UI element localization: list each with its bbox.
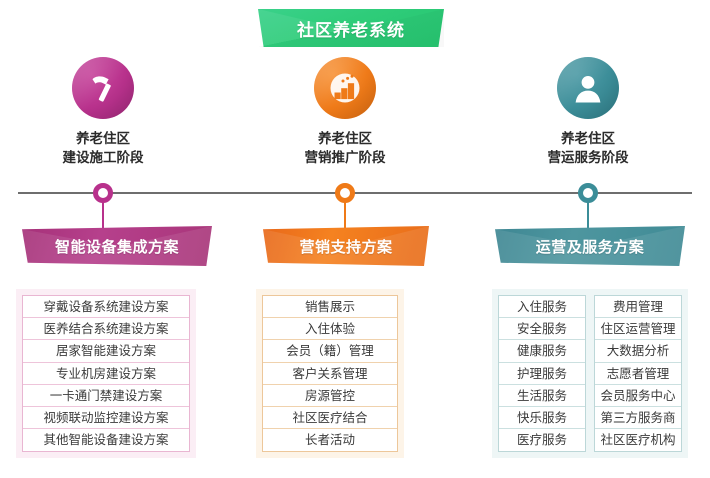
ribbon-label: 运营及服务方案 <box>495 226 685 266</box>
list-item[interactable]: 会员（籍）管理 <box>263 340 397 362</box>
list-column: 销售展示入住体验会员（籍）管理客户关系管理房源管控社区医疗结合长者活动 <box>262 295 398 452</box>
hammer-icon <box>72 57 134 119</box>
list-item[interactable]: 视频联动监控建设方案 <box>23 407 189 429</box>
list-item[interactable]: 社区医疗机构 <box>595 429 681 451</box>
ribbon-smart-device-solution: 智能设备集成方案 <box>22 226 212 266</box>
ribbon-label: 智能设备集成方案 <box>22 226 212 266</box>
panel-smart-device-items: 穿戴设备系统建设方案医养结合系统建设方案居家智能建设方案专业机房建设方案一卡通门… <box>16 289 196 458</box>
list-item[interactable]: 一卡通门禁建设方案 <box>23 385 189 407</box>
user-person-icon <box>557 57 619 119</box>
panel-marketing-items: 销售展示入住体验会员（籍）管理客户关系管理房源管控社区医疗结合长者活动 <box>256 289 404 458</box>
stage-caption: 养老住区 建设施工阶段 <box>3 130 203 168</box>
ribbon-operation-service-solution: 运营及服务方案 <box>495 226 685 266</box>
list-column: 穿戴设备系统建设方案医养结合系统建设方案居家智能建设方案专业机房建设方案一卡通门… <box>22 295 190 452</box>
list-item[interactable]: 会员服务中心 <box>595 385 681 407</box>
stage-caption: 养老住区 营运服务阶段 <box>488 130 688 168</box>
list-item[interactable]: 销售展示 <box>263 296 397 318</box>
list-item[interactable]: 医养结合系统建设方案 <box>23 318 189 340</box>
list-item[interactable]: 社区医疗结合 <box>263 407 397 429</box>
list-item[interactable]: 专业机房建设方案 <box>23 363 189 385</box>
list-item[interactable]: 入住服务 <box>499 296 585 318</box>
list-column: 费用管理住区运营管理大数据分析志愿者管理会员服务中心第三方服务商社区医疗机构 <box>594 295 682 452</box>
page-title: 社区养老系统 <box>258 9 444 47</box>
list-item[interactable]: 居家智能建设方案 <box>23 340 189 362</box>
list-item[interactable]: 快乐服务 <box>499 407 585 429</box>
list-item[interactable]: 医疗服务 <box>499 429 585 451</box>
list-item[interactable]: 费用管理 <box>595 296 681 318</box>
stage-caption: 养老住区 营销推广阶段 <box>245 130 445 168</box>
list-item[interactable]: 第三方服务商 <box>595 407 681 429</box>
ribbon-marketing-support-solution: 营销支持方案 <box>263 226 429 266</box>
ribbon-label: 营销支持方案 <box>263 226 429 266</box>
list-item[interactable]: 房源管控 <box>263 385 397 407</box>
list-item[interactable]: 长者活动 <box>263 429 397 451</box>
system-title-banner: 社区养老系统 <box>258 9 444 47</box>
list-item[interactable]: 穿戴设备系统建设方案 <box>23 296 189 318</box>
list-item[interactable]: 生活服务 <box>499 385 585 407</box>
stage-marketing: 养老住区 营销推广阶段 <box>245 57 445 168</box>
list-item[interactable]: 其他智能设备建设方案 <box>23 429 189 451</box>
stage-operation: 养老住区 营运服务阶段 <box>488 57 688 168</box>
list-item[interactable]: 安全服务 <box>499 318 585 340</box>
stage-construction: 养老住区 建设施工阶段 <box>3 57 203 168</box>
growth-stairs-icon <box>314 57 376 119</box>
panel-operation-items: 入住服务安全服务健康服务护理服务生活服务快乐服务医疗服务费用管理住区运营管理大数… <box>492 289 688 458</box>
list-item[interactable]: 入住体验 <box>263 318 397 340</box>
list-column: 入住服务安全服务健康服务护理服务生活服务快乐服务医疗服务 <box>498 295 586 452</box>
list-item[interactable]: 住区运营管理 <box>595 318 681 340</box>
list-item[interactable]: 护理服务 <box>499 363 585 385</box>
list-item[interactable]: 志愿者管理 <box>595 363 681 385</box>
list-item[interactable]: 健康服务 <box>499 340 585 362</box>
list-item[interactable]: 大数据分析 <box>595 340 681 362</box>
list-item[interactable]: 客户关系管理 <box>263 363 397 385</box>
